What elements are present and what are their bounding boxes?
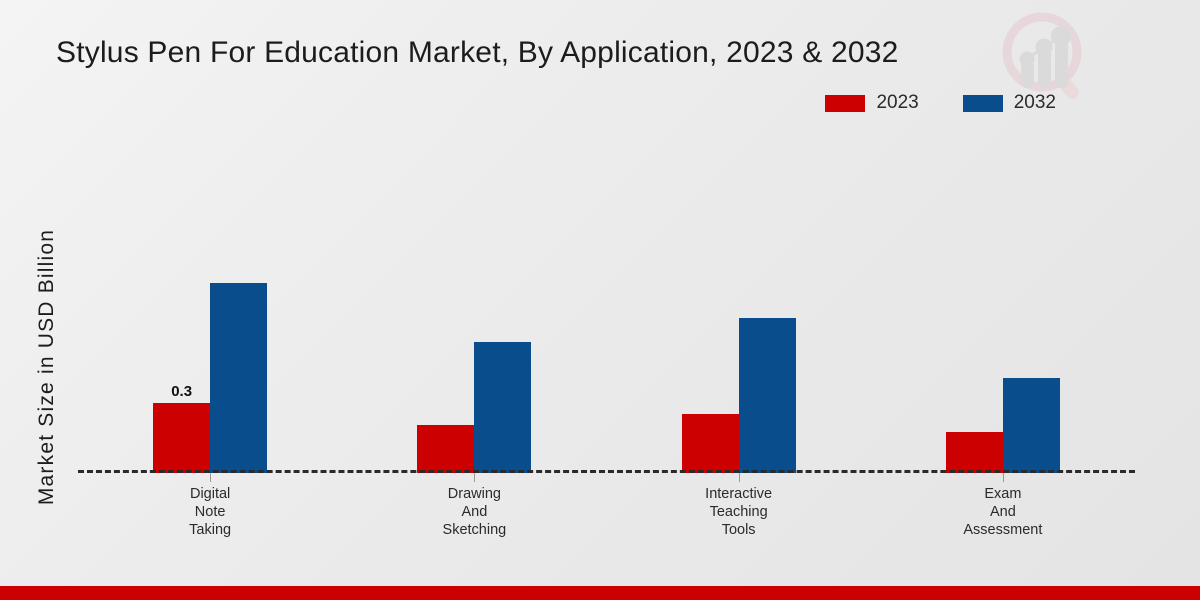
x-label-0-line-1: Digital bbox=[189, 485, 231, 503]
bars bbox=[682, 150, 796, 473]
x-label-1-line-3: Sketching bbox=[443, 521, 507, 539]
bar-value-2023-0: 0.3 bbox=[171, 383, 192, 400]
x-label-2: Interactive Teaching Tools bbox=[705, 485, 772, 539]
x-axis-baseline bbox=[78, 470, 1135, 473]
legend-swatch-2023 bbox=[825, 95, 865, 112]
x-label-3: Exam And Assessment bbox=[963, 485, 1042, 539]
y-axis-title: Market Size in USD Billion bbox=[35, 197, 59, 537]
bar-2023-1[interactable] bbox=[417, 425, 474, 473]
legend-item-2032[interactable]: 2032 bbox=[963, 92, 1056, 114]
chart-canvas: Stylus Pen For Education Market, By Appl… bbox=[0, 0, 1200, 600]
x-label-0-line-2: Note bbox=[189, 503, 231, 521]
bar-group-interactive-teaching-tools: Interactive Teaching Tools bbox=[607, 150, 871, 473]
chart-title: Stylus Pen For Education Market, By Appl… bbox=[56, 36, 898, 70]
watermark-logo bbox=[995, 5, 1100, 105]
bar-2023-3[interactable] bbox=[946, 432, 1003, 473]
x-label-3-line-1: Exam bbox=[963, 485, 1042, 503]
x-tick-1 bbox=[474, 473, 475, 482]
chart-legend: 2023 2032 bbox=[825, 92, 1056, 114]
footer-accent-bar bbox=[0, 586, 1200, 600]
bar-2032-2[interactable] bbox=[739, 318, 796, 473]
legend-label-2032: 2032 bbox=[1014, 92, 1056, 114]
x-label-0: Digital Note Taking bbox=[189, 485, 231, 539]
x-tick-3 bbox=[1003, 473, 1004, 482]
x-label-0-line-3: Taking bbox=[189, 521, 231, 539]
x-tick-0 bbox=[210, 473, 211, 482]
bar-2023-2[interactable] bbox=[682, 414, 739, 473]
x-tick-2 bbox=[739, 473, 740, 482]
bar-2032-1[interactable] bbox=[474, 342, 531, 473]
bars: 0.3 bbox=[153, 150, 267, 473]
x-label-2-line-3: Tools bbox=[705, 521, 772, 539]
bar-group-digital-note-taking: 0.3 Digital Note Taking bbox=[78, 150, 342, 473]
bars bbox=[946, 150, 1060, 473]
bar-2032-3[interactable] bbox=[1003, 378, 1060, 473]
bar-group-exam-and-assessment: Exam And Assessment bbox=[871, 150, 1135, 473]
x-label-2-line-1: Interactive bbox=[705, 485, 772, 503]
bars bbox=[417, 150, 531, 473]
x-label-2-line-2: Teaching bbox=[705, 503, 772, 521]
plot-area: 0.3 Digital Note Taking bbox=[78, 150, 1135, 473]
bar-group-drawing-and-sketching: Drawing And Sketching bbox=[342, 150, 606, 473]
legend-label-2023: 2023 bbox=[876, 92, 918, 114]
x-label-1-line-1: Drawing bbox=[443, 485, 507, 503]
legend-item-2023[interactable]: 2023 bbox=[825, 92, 918, 114]
bar-2032-0[interactable] bbox=[210, 283, 267, 473]
legend-swatch-2032 bbox=[963, 95, 1003, 112]
x-label-1: Drawing And Sketching bbox=[443, 485, 507, 539]
bar-groups: 0.3 Digital Note Taking bbox=[78, 150, 1135, 473]
x-label-3-line-3: Assessment bbox=[963, 521, 1042, 539]
bar-2023-0[interactable]: 0.3 bbox=[153, 403, 210, 473]
x-label-1-line-2: And bbox=[443, 503, 507, 521]
x-label-3-line-2: And bbox=[963, 503, 1042, 521]
